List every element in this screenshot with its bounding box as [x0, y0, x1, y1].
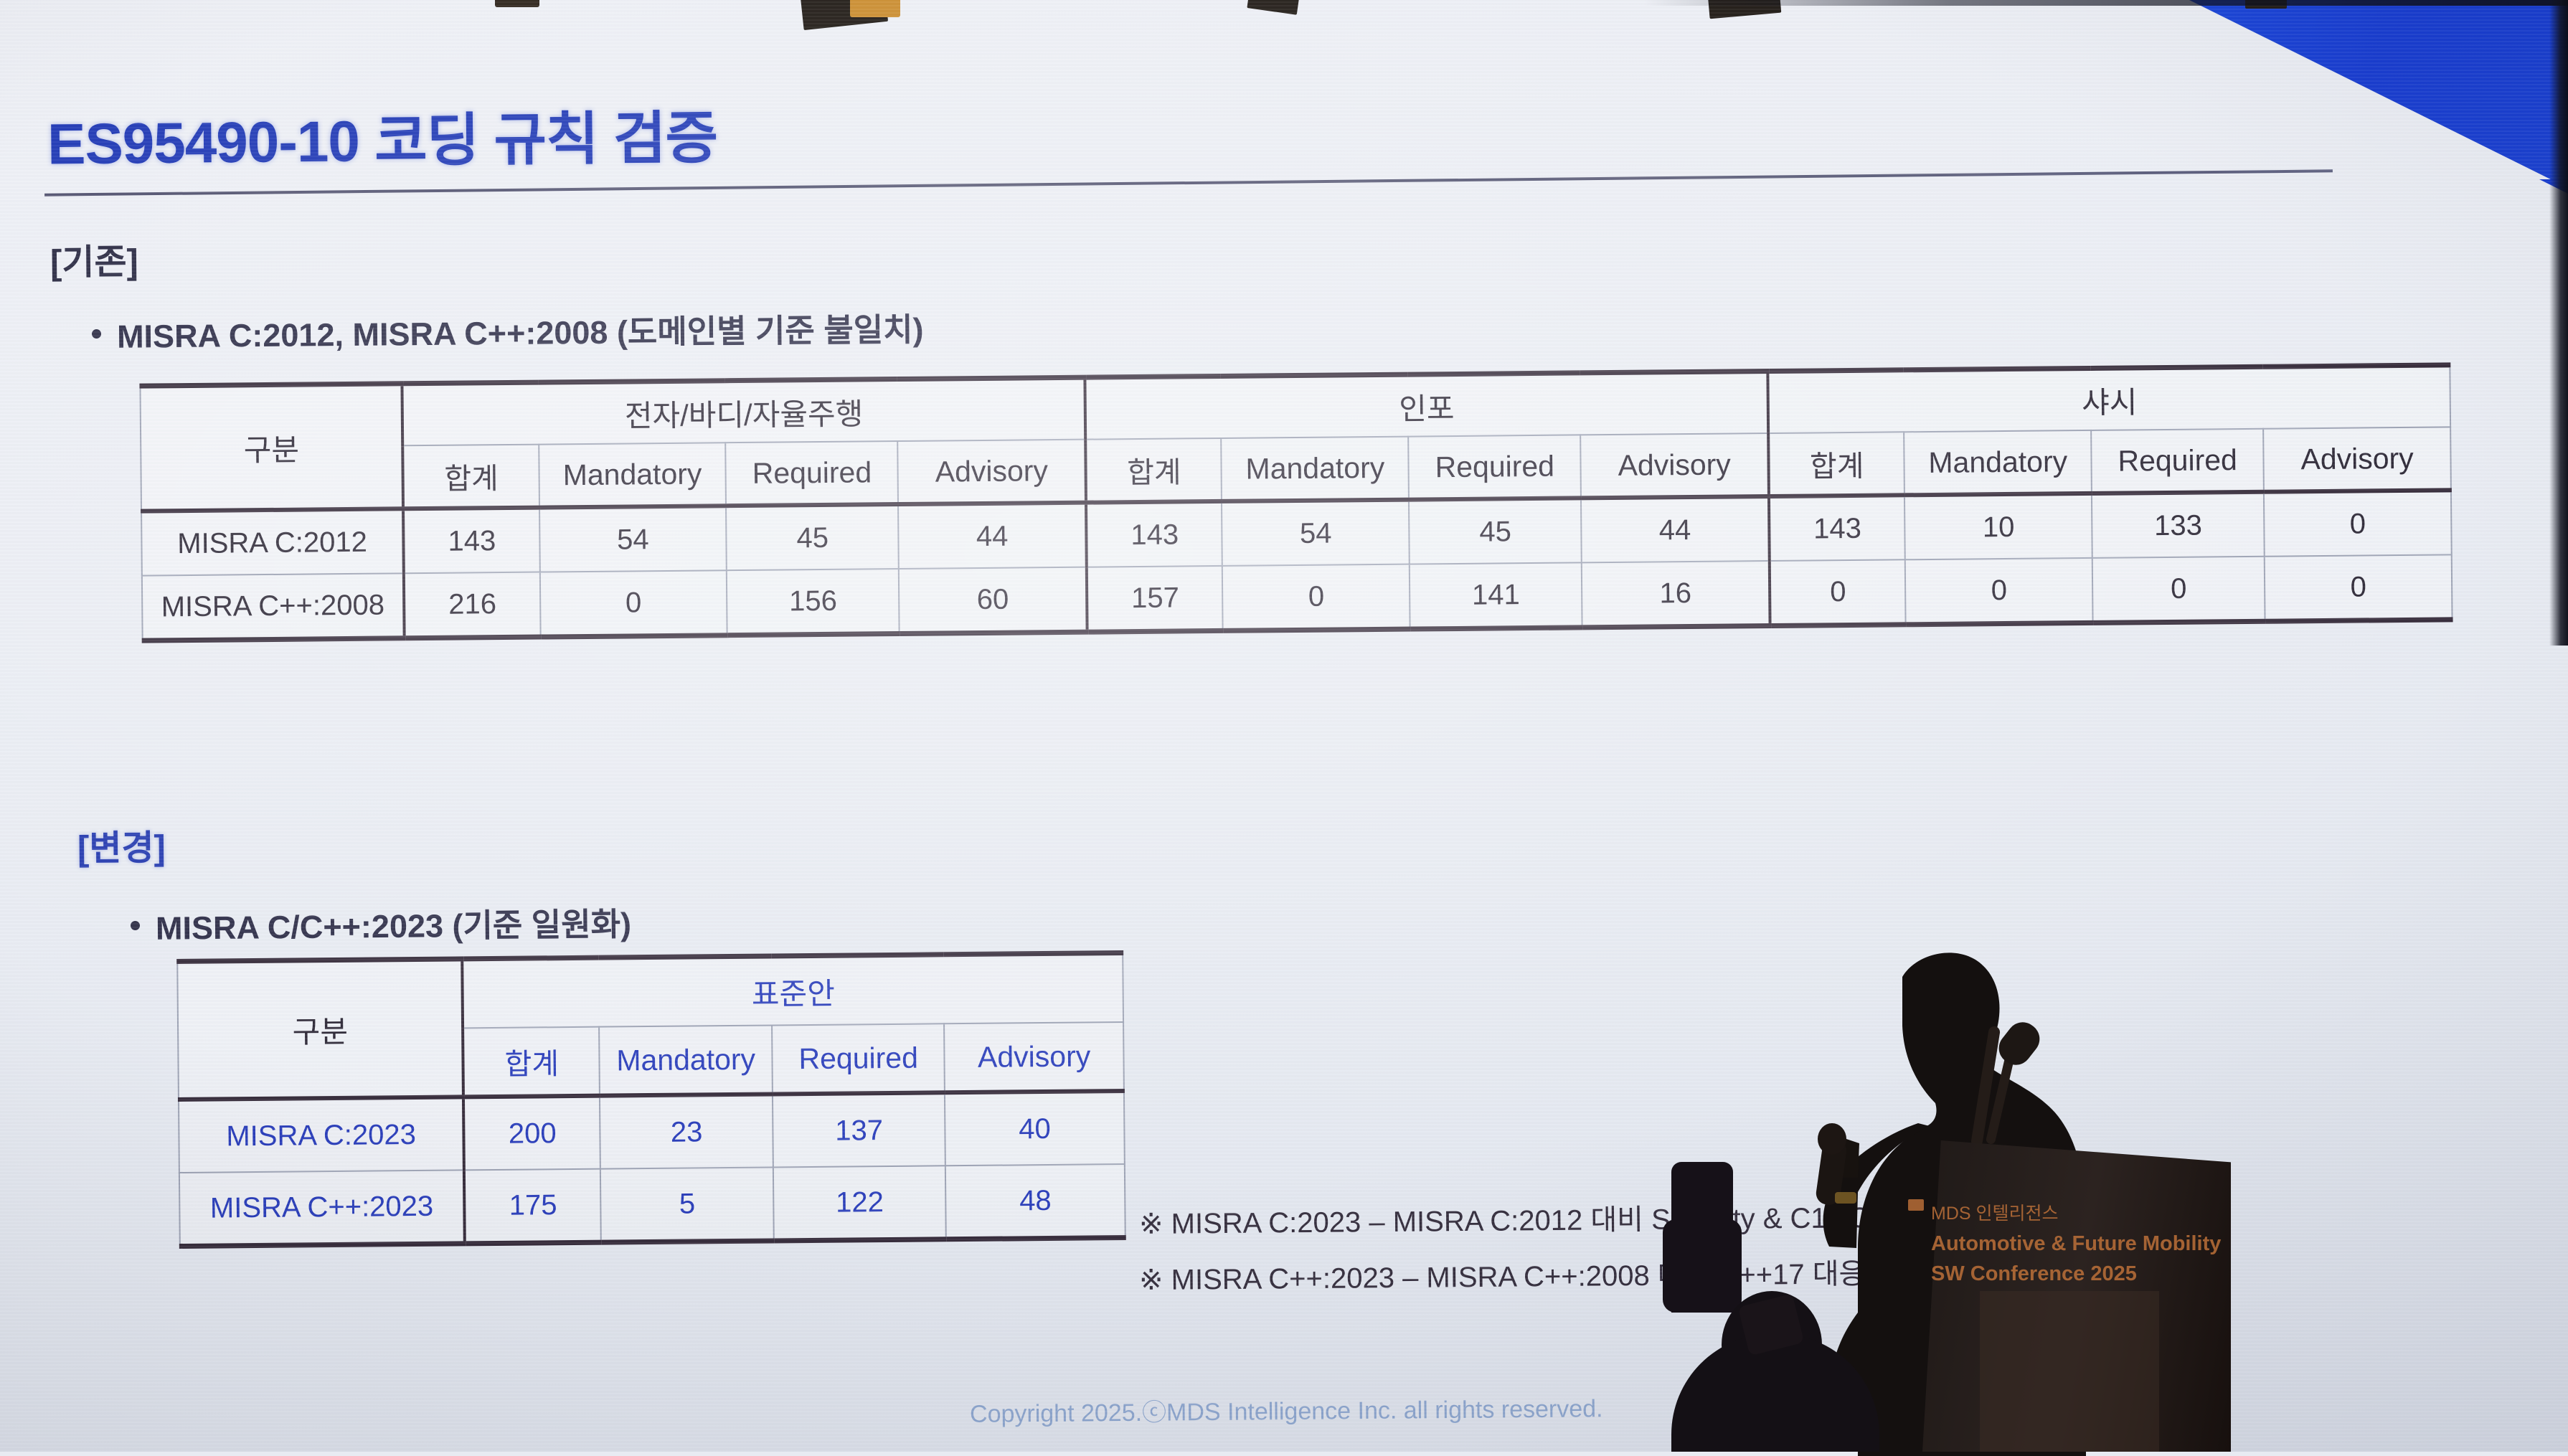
cell: 156 [727, 569, 900, 635]
copyright-notice: Copyright 2025.ⓒMDS Intelligence Inc. al… [970, 1389, 1603, 1429]
corner-decoration [2189, 0, 2568, 188]
cell: 200 [463, 1096, 600, 1171]
th-sub-g1-required: Required [1408, 435, 1581, 499]
table-changed-group-header-row: 구분 표준안 [177, 953, 1123, 1031]
th-sub-g0-total: 합계 [402, 445, 539, 509]
cell: 0 [1770, 559, 1906, 625]
th-group-2: 샤시 [1767, 365, 2450, 433]
cell: 54 [539, 506, 727, 572]
cell: 133 [2092, 492, 2265, 558]
cell: 45 [726, 504, 899, 570]
row-label: MISRA C:2012 [141, 509, 404, 575]
bullet-dot-icon [131, 921, 140, 930]
bullet-dot-icon [92, 329, 101, 339]
cell: 143 [1086, 501, 1222, 567]
th-sub-g1-mandatory: Mandatory [1222, 437, 1410, 501]
cell: 137 [773, 1092, 945, 1167]
cell: 23 [600, 1094, 773, 1168]
th-sub-g0-advisory: Advisory [898, 440, 1087, 504]
cell: 60 [899, 567, 1087, 634]
th-group-standard: 표준안 [463, 953, 1123, 1029]
th-sub-total: 합계 [463, 1027, 600, 1097]
cell: 143 [1769, 495, 1905, 561]
podium-panel [1980, 1291, 2159, 1452]
cell: 0 [1222, 564, 1410, 631]
section-heading-changed: [변경] [77, 819, 166, 871]
cell: 0 [2264, 490, 2452, 556]
section-heading-existing: [기존] [50, 233, 138, 285]
th-sub-g2-total: 합계 [1768, 432, 1904, 496]
th-sub-g1-advisory: Advisory [1580, 433, 1769, 498]
podium-logo-icon [1908, 1199, 1924, 1211]
cell: 44 [1581, 496, 1770, 562]
th-gubun: 구분 [177, 959, 463, 1100]
th-sub-mandatory: Mandatory [599, 1025, 773, 1095]
th-group-0: 전자/바디/자율주행 [402, 377, 1086, 445]
cell: 122 [773, 1166, 946, 1241]
th-sub-g2-advisory: Advisory [2263, 427, 2451, 491]
row-label: MISRA C++:2023 [179, 1170, 465, 1246]
bullet-existing-label: MISRA C:2012, MISRA C++:2008 (도메인별 기준 불일… [117, 303, 924, 357]
cell: 44 [898, 503, 1087, 569]
th-sub-g2-mandatory: Mandatory [1904, 430, 2092, 495]
row-label: MISRA C:2023 [179, 1097, 464, 1173]
cell: 141 [1410, 562, 1582, 629]
cell: 0 [1905, 558, 2093, 625]
cell: 48 [945, 1164, 1125, 1239]
audience-silhouette-back-body [1663, 1219, 1742, 1313]
th-sub-g1-total: 합계 [1085, 438, 1222, 503]
cell: 5 [600, 1167, 774, 1242]
screen-edge-right [2549, 0, 2568, 646]
th-sub-g2-required: Required [2091, 429, 2264, 493]
bullet-existing: MISRA C:2012, MISRA C++:2008 (도메인별 기준 불일… [92, 303, 924, 357]
cell: 175 [464, 1169, 601, 1244]
th-gubun: 구분 [140, 384, 403, 511]
cell: 16 [1582, 561, 1770, 628]
cell: 0 [2092, 557, 2265, 623]
cell: 10 [1904, 493, 2092, 559]
projected-slide: ES95490-10 코딩 규칙 검증 [기존] MISRA C:2012, M… [0, 0, 2568, 1452]
podium-org-label: MDS 인텔리전스 [1931, 1199, 2059, 1225]
th-sub-g0-mandatory: Mandatory [539, 443, 727, 507]
cell: 40 [945, 1091, 1125, 1166]
cell: 0 [2265, 554, 2453, 621]
cell: 143 [403, 508, 539, 574]
cell: 54 [1222, 500, 1410, 566]
cell: 0 [539, 570, 727, 637]
podium-conference-line2: SW Conference 2025 [1931, 1262, 2137, 1286]
table-row: MISRA C:2023 200 23 137 40 [179, 1091, 1125, 1173]
th-sub-required: Required [772, 1024, 945, 1094]
th-sub-g0-required: Required [726, 441, 899, 506]
bullet-changed: MISRA C/C++:2023 (기준 일원화) [131, 898, 632, 949]
table-changed-standard: 구분 표준안 합계 Mandatory Required Advisory MI… [176, 950, 1126, 1249]
cell: 45 [1409, 498, 1582, 564]
cell: 157 [1087, 566, 1223, 632]
th-sub-advisory: Advisory [944, 1022, 1124, 1092]
screen-edge-top [0, 0, 2568, 6]
podium-conference-line1: Automotive & Future Mobility [1931, 1232, 2221, 1256]
table-existing-standards: 구분 전자/바디/자율주행 인포 샤시 합계 Mandatory Require… [139, 362, 2453, 643]
page-title: ES95490-10 코딩 규칙 검증 [47, 91, 717, 181]
row-label: MISRA C++:2008 [142, 573, 405, 640]
th-group-1: 인포 [1085, 372, 1769, 440]
bullet-changed-label: MISRA C/C++:2023 (기준 일원화) [156, 898, 632, 949]
table-row: MISRA C++:2023 175 5 122 48 [179, 1164, 1125, 1246]
cell: 216 [404, 572, 540, 638]
